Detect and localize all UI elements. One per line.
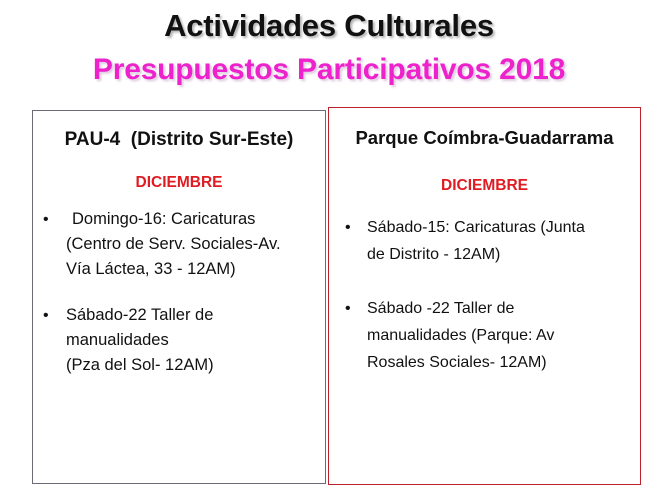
list-item: • Sábado-15: Caricaturas (Junta de Distr… (341, 214, 632, 268)
list-item: • Sábado-22 Taller de manualidades (Pza … (41, 303, 319, 378)
list-item: • Sábado -22 Taller de manualidades (Par… (341, 295, 632, 376)
list-item-text: Sábado-22 Taller de manualidades (Pza de… (66, 303, 319, 378)
slide-title-main: Actividades Culturales (0, 4, 658, 48)
month-heading-pau-4: DICIEMBRE (33, 173, 325, 193)
bullet-dot-icon: • (345, 295, 351, 322)
panel-parque-coimbra-guadarrama: Parque Coímbra-Guadarrama DICIEMBRE • Sá… (328, 107, 641, 485)
slide-title-subtitle: Presupuestos Participativos 2018 (0, 48, 658, 92)
slide-canvas: Actividades Culturales Presupuestos Part… (0, 0, 658, 494)
bullet-list-parque-coimbra-guadarrama: • Sábado-15: Caricaturas (Junta de Distr… (329, 214, 640, 376)
panel-pau-4: PAU-4 (Distrito Sur-Este) DICIEMBRE • Do… (32, 110, 326, 484)
bullet-dot-icon: • (43, 207, 49, 232)
bullet-dot-icon: • (345, 214, 351, 241)
list-item-text: Domingo-16: Caricaturas (Centro de Serv.… (66, 207, 319, 282)
list-item: • Domingo-16: Caricaturas (Centro de Ser… (41, 207, 319, 282)
slide-title-block: Actividades Culturales Presupuestos Part… (0, 4, 658, 92)
bullet-list-pau-4: • Domingo-16: Caricaturas (Centro de Ser… (33, 207, 325, 378)
panel-title-pau-4: PAU-4 (Distrito Sur-Este) (33, 128, 325, 152)
panel-title-parque-coimbra-guadarrama: Parque Coímbra-Guadarrama (329, 126, 640, 150)
bullet-dot-icon: • (43, 303, 49, 328)
list-item-text: Sábado-15: Caricaturas (Junta de Distrit… (367, 214, 632, 268)
month-heading-parque-coimbra-guadarrama: DICIEMBRE (329, 176, 640, 196)
list-item-text: Sábado -22 Taller de manualidades (Parqu… (367, 295, 632, 376)
